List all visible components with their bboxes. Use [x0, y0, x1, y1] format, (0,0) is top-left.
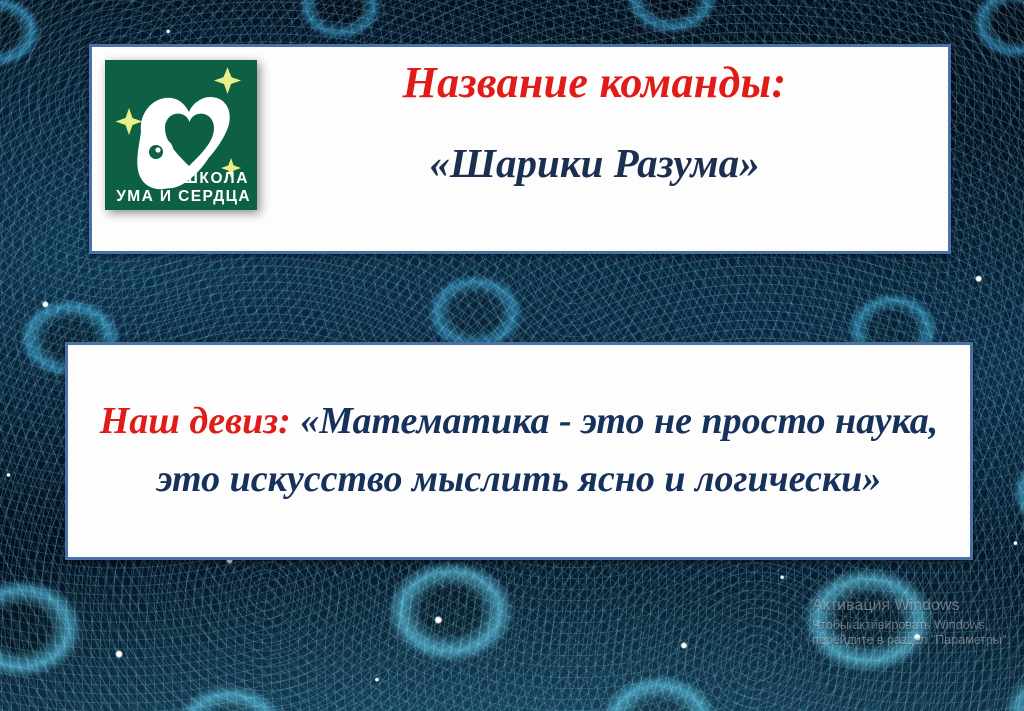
dove-eye-icon: [149, 145, 163, 159]
logo-line-2: УМА И СЕРДЦА: [116, 188, 251, 205]
motto-text-block: Наш девиз: «Математика - это не просто н…: [68, 393, 970, 509]
team-name-panel: ШКОЛА УМА И СЕРДЦА Название команды: «Ша…: [89, 44, 951, 254]
school-emblem-icon: ШКОЛА УМА И СЕРДЦА: [105, 60, 257, 210]
dove-eye-highlight: [155, 147, 160, 152]
team-title-column: Название команды: «Шарики Разума»: [257, 47, 948, 188]
presentation-slide: ШКОЛА УМА И СЕРДЦА Название команды: «Ша…: [0, 0, 1024, 711]
logo-line-1: ШКОЛА: [182, 170, 249, 187]
team-name-label: Название команды:: [403, 57, 787, 109]
team-name-value: «Шарики Разума»: [429, 139, 759, 188]
motto-lead-label: Наш девиз:: [100, 400, 291, 442]
school-logo: ШКОЛА УМА И СЕРДЦА: [105, 60, 257, 210]
team-motto-panel: Наш девиз: «Математика - это не просто н…: [65, 342, 973, 560]
